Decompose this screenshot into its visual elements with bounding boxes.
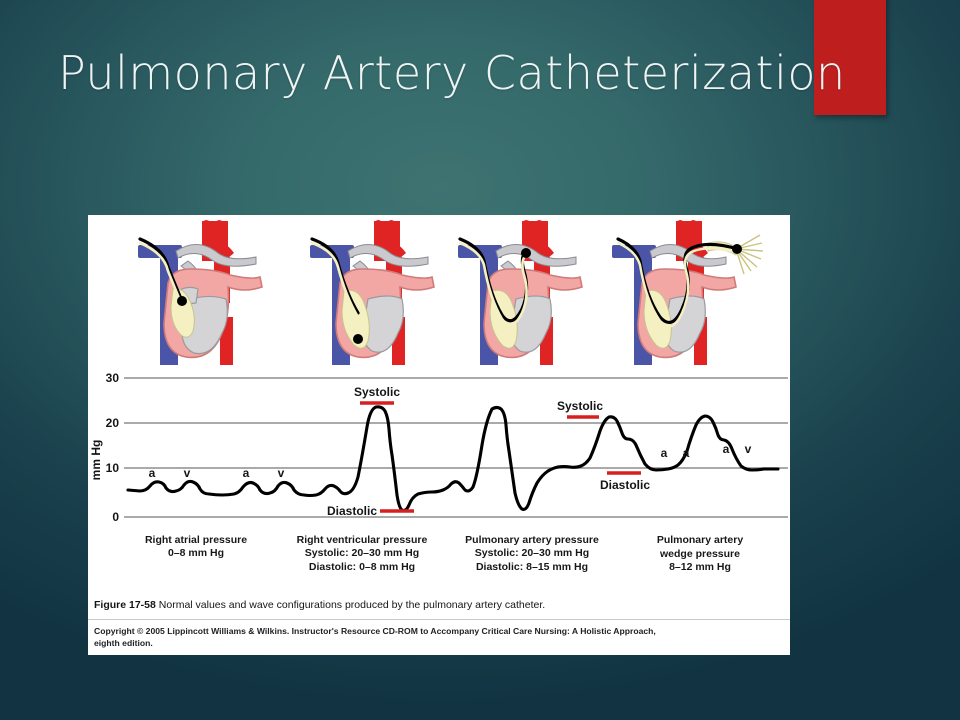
heart-diagram-right-atrium (116, 217, 291, 365)
figure-number: Figure 17-58 (94, 599, 156, 611)
column-value-line: Diastolic: 8–15 mm Hg (444, 561, 620, 575)
column-title: Right ventricular pressure (274, 533, 450, 547)
column-title: Pulmonary artery pressure (444, 533, 620, 547)
column-caption-pulmonary-artery: Pulmonary artery pressure Systolic: 20–3… (444, 533, 620, 574)
column-title-line1: Pulmonary artery (612, 533, 788, 547)
pressure-waveform-chart: 30 20 10 0 mm Hg (88, 365, 790, 530)
column-value-line: Diastolic: 0–8 mm Hg (274, 561, 450, 575)
heart-diagram-row (88, 215, 790, 365)
column-title: Right atrial pressure (108, 533, 284, 547)
column-value-line: Systolic: 20–30 mm Hg (274, 547, 450, 561)
figure-panel: 30 20 10 0 mm Hg (88, 215, 790, 655)
heart-diagram-pulmonary-artery (436, 217, 611, 365)
column-value-line: 0–8 mm Hg (108, 547, 284, 561)
column-title-line2: wedge pressure (612, 547, 788, 561)
copyright-line-1: Copyright © 2005 Lippincott Williams & W… (94, 625, 784, 637)
column-caption-wedge: Pulmonary artery wedge pressure 8–12 mm … (612, 533, 788, 575)
caption-divider (88, 619, 790, 620)
column-value-line: Systolic: 20–30 mm Hg (444, 547, 620, 561)
column-caption-right-ventricular: Right ventricular pressure Systolic: 20–… (274, 533, 450, 574)
catheter-wedged-icon (596, 217, 771, 365)
copyright-notice: Copyright © 2005 Lippincott Williams & W… (94, 625, 784, 650)
catheter-in-pulmonary-artery-icon (436, 217, 611, 365)
column-value-line: 8–12 mm Hg (612, 561, 788, 575)
slide-canvas: Pulmonary Artery Catheterization (0, 0, 960, 720)
copyright-line-2: eighth edition. (94, 637, 784, 649)
heart-diagram-wedge (596, 217, 771, 365)
column-caption-row: Right atrial pressure 0–8 mm Hg Right ve… (88, 533, 790, 595)
page-title: Pulmonary Artery Catheterization (58, 46, 846, 100)
catheter-in-right-atrium-icon (116, 217, 291, 365)
figure-caption-text: Normal values and wave configurations pr… (159, 599, 545, 611)
wedge-waveform-overlay (88, 365, 790, 530)
column-caption-right-atrial: Right atrial pressure 0–8 mm Hg (108, 533, 284, 561)
figure-caption: Figure 17-58 Normal values and wave conf… (94, 598, 784, 612)
